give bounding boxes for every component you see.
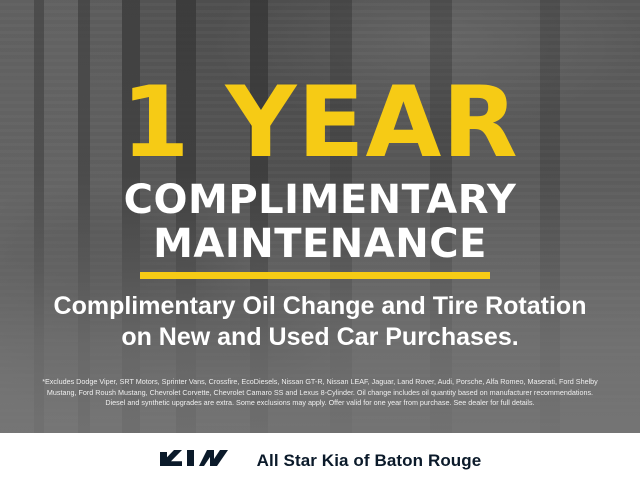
dealer-footer-bar: All Star Kia of Baton Rouge [0,433,640,488]
disclaimer-fine-print: *Excludes Dodge Viper, SRT Motors, Sprin… [14,377,626,409]
tagline-line-2: on New and Used Car Purchases. [0,322,640,353]
kia-logo-icon [159,447,235,474]
hero-content: 1 YEAR COMPLIMENTARY MAINTENANCE Complim… [0,0,640,433]
dealer-name: All Star Kia of Baton Rouge [257,451,482,471]
headline-maintenance: MAINTENANCE [0,224,640,264]
disclaimer-line-2: Mustang, Ford Roush Mustang, Chevrolet C… [14,388,626,399]
yellow-divider-rule [140,272,490,279]
tagline-line-1: Complimentary Oil Change and Tire Rotati… [0,291,640,322]
promo-banner: 1 YEAR COMPLIMENTARY MAINTENANCE Complim… [0,0,640,488]
headline-complimentary: COMPLIMENTARY [0,180,640,220]
footer-inner: All Star Kia of Baton Rouge [159,447,482,474]
disclaimer-line-1: *Excludes Dodge Viper, SRT Motors, Sprin… [14,377,626,388]
disclaimer-line-3: Diesel and synthetic upgrades are extra.… [14,398,626,409]
tagline: Complimentary Oil Change and Tire Rotati… [0,291,640,353]
headline-year: 1 YEAR [0,74,640,172]
hero-photo-section: 1 YEAR COMPLIMENTARY MAINTENANCE Complim… [0,0,640,433]
